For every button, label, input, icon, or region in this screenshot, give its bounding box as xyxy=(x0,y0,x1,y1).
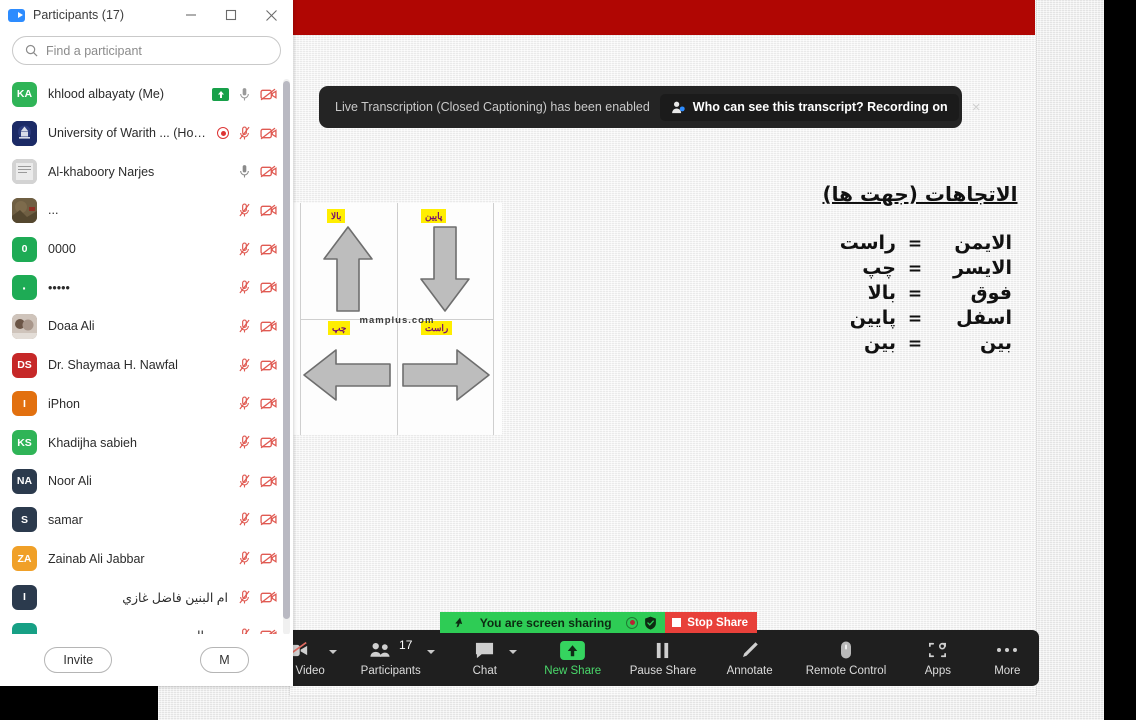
participant-name: iPhon xyxy=(48,397,228,411)
participant-name: 0000 xyxy=(48,242,228,256)
stop-share-button[interactable]: Stop Share xyxy=(665,612,757,633)
participant-name: University of Warith ... (Host) xyxy=(48,126,206,140)
avatar xyxy=(12,314,37,339)
avatar xyxy=(12,121,37,146)
avatar: DS xyxy=(12,353,37,378)
invite-button[interactable]: Invite xyxy=(44,647,112,673)
list-item[interactable]: Doaa Ali xyxy=(0,307,293,346)
toolbar-remote-control-button[interactable]: Remote Control xyxy=(798,630,894,686)
close-icon[interactable]: × xyxy=(969,99,984,116)
university-logo-icon xyxy=(12,121,37,146)
microphone-muted-icon[interactable] xyxy=(239,590,250,605)
participants-icon: 17 xyxy=(369,639,412,661)
list-item[interactable]: I iPhon xyxy=(0,385,293,424)
vocabulary-row: الايسر = چپ xyxy=(800,257,1040,279)
zoom-meeting-toolbar: Mute Start Video xyxy=(183,630,1039,686)
vocabulary-arabic-term: الايسر xyxy=(934,257,1012,279)
avatar: I xyxy=(12,585,37,610)
avatar xyxy=(12,198,37,223)
vocabulary-persian-term: بین xyxy=(800,332,896,354)
toolbar-new-share-button[interactable]: New Share xyxy=(537,630,609,686)
screen-root: بالا پایین چپ راست xyxy=(0,0,1136,720)
video-off-icon[interactable] xyxy=(260,552,277,565)
participant-name: Khadijha sabieh xyxy=(48,436,228,450)
vocabulary-equals: = xyxy=(902,234,928,254)
chat-icon xyxy=(474,639,495,661)
participant-status-icons xyxy=(239,242,277,257)
list-item[interactable]: University of Warith ... (Host) xyxy=(0,114,293,153)
toolbar-chat-label: Chat xyxy=(473,665,497,677)
who-can-see-transcript-label: Who can see this transcript? Recording o… xyxy=(693,100,948,114)
video-off-icon[interactable] xyxy=(260,436,277,449)
participant-status-icons xyxy=(239,280,277,295)
microphone-muted-icon[interactable] xyxy=(239,280,250,295)
toolbar-chat-button[interactable]: Chat xyxy=(459,630,511,686)
toolbar-annotate-button[interactable]: Annotate xyxy=(715,630,784,686)
toolbar-more-button[interactable]: More xyxy=(980,630,1035,686)
vocabulary-row: الايمن = راست xyxy=(800,232,1040,254)
list-item[interactable]: ZA Zainab Ali Jabbar xyxy=(0,539,293,578)
list-item[interactable]: Al-khaboory Narjes xyxy=(0,152,293,191)
mouse-icon xyxy=(839,639,853,661)
mute-all-button[interactable]: M xyxy=(200,647,248,673)
video-off-icon[interactable] xyxy=(260,165,277,178)
toolbar-more-label: More xyxy=(994,665,1020,677)
close-icon[interactable] xyxy=(251,0,291,30)
participant-name: ••••• xyxy=(48,281,228,295)
scrollbar-thumb[interactable] xyxy=(283,81,290,619)
list-item[interactable]: ... xyxy=(0,191,293,230)
photo-avatar-icon xyxy=(12,159,37,184)
microphone-muted-icon[interactable] xyxy=(239,242,250,257)
participant-name: ... xyxy=(48,203,228,217)
vocabulary-title: الاتجاهات (جهت ها) xyxy=(800,182,1040,206)
video-off-icon[interactable] xyxy=(260,88,277,101)
list-item[interactable]: NA Noor Ali xyxy=(0,462,293,501)
video-off-icon[interactable] xyxy=(260,397,277,410)
list-item[interactable]: · ••••• xyxy=(0,268,293,307)
zoom-logo-icon xyxy=(8,9,25,22)
avatar: ZA xyxy=(12,546,37,571)
who-can-see-transcript-button[interactable]: Who can see this transcript? Recording o… xyxy=(660,94,959,121)
avatar: KA xyxy=(12,82,37,107)
arrow-left-icon xyxy=(302,347,392,403)
toolbar-new-share-label: New Share xyxy=(544,665,601,677)
vocabulary-arabic-term: الايمن xyxy=(934,232,1012,254)
participant-status-icons xyxy=(239,319,277,334)
participant-name: khlood albayaty (Me) xyxy=(48,87,201,101)
toolbar-pause-share-button[interactable]: Pause Share xyxy=(625,630,702,686)
vocabulary-row: بين = بین xyxy=(800,332,1040,354)
arrow-right-icon xyxy=(401,347,491,403)
vocabulary-arabic-term: بين xyxy=(934,332,1012,354)
participant-status-icons xyxy=(239,590,277,605)
participants-window-titlebar: Participants (17) xyxy=(0,0,293,30)
directions-vocabulary-block: الاتجاهات (جهت ها) الايمن = راست الايسر … xyxy=(800,182,1040,357)
share-up-icon xyxy=(559,639,586,661)
list-item[interactable]: 0 0000 xyxy=(0,230,293,269)
participant-status-icons xyxy=(239,203,277,218)
participants-scrollbar[interactable] xyxy=(283,79,290,635)
participant-name: Zainab Ali Jabbar xyxy=(48,552,228,566)
participants-options-chevron-down-icon[interactable] xyxy=(427,650,435,654)
vocabulary-equals: = xyxy=(902,309,928,329)
vocabulary-persian-term: راست xyxy=(800,232,896,254)
participant-status-icons xyxy=(239,435,277,450)
share-pointer-icon xyxy=(452,616,465,629)
toolbar-pause-share-label: Pause Share xyxy=(630,665,697,677)
participant-name: Al-khaboory Narjes xyxy=(48,165,228,179)
photo-avatar-icon xyxy=(12,198,37,223)
participant-status-icons xyxy=(212,87,277,102)
arrow-down-icon xyxy=(419,225,471,313)
photo-avatar-icon xyxy=(12,314,37,339)
microphone-muted-icon[interactable] xyxy=(239,396,250,411)
search-placeholder: Find a participant xyxy=(46,44,142,58)
participant-name: Doaa Ali xyxy=(48,319,228,333)
raise-hand-badge-icon[interactable] xyxy=(212,88,229,101)
recording-indicator-icon xyxy=(217,127,229,139)
pause-icon xyxy=(654,639,671,661)
microphone-muted-icon[interactable] xyxy=(239,126,250,141)
transcription-message: Live Transcription (Closed Captioning) h… xyxy=(335,100,650,114)
participant-status-icons xyxy=(239,512,277,527)
participant-status-icons xyxy=(217,126,277,141)
minimize-icon[interactable] xyxy=(171,0,211,30)
participant-status-icons xyxy=(239,164,277,179)
arrow-up-icon xyxy=(322,225,374,313)
toolbar-remote-control-label: Remote Control xyxy=(806,665,887,677)
participants-search-area: Find a participant xyxy=(0,30,293,75)
microphone-muted-icon[interactable] xyxy=(239,319,250,334)
document-red-header-banner xyxy=(293,0,1035,35)
arrow-label-down: پایین xyxy=(421,209,446,223)
participants-footer: Invite M xyxy=(0,634,293,686)
arrow-cell-right: راست xyxy=(397,319,494,435)
search-icon xyxy=(25,44,38,57)
list-item[interactable]: KS Khadijha sabieh xyxy=(0,423,293,462)
participants-window-title: Participants (17) xyxy=(33,8,171,22)
participants-window: Participants (17) Find a participant xyxy=(0,0,293,686)
video-off-icon[interactable] xyxy=(260,204,277,217)
microphone-muted-icon[interactable] xyxy=(239,551,250,566)
vocabulary-row: اسفل = پایین xyxy=(800,307,1040,329)
vocabulary-equals: = xyxy=(902,259,928,279)
record-dot-icon xyxy=(626,617,638,629)
apps-icon xyxy=(927,639,948,661)
video-off-icon[interactable] xyxy=(260,127,277,140)
vocabulary-persian-term: چپ xyxy=(800,257,896,279)
video-off-icon[interactable] xyxy=(260,320,277,333)
avatar: · xyxy=(12,275,37,300)
arrow-cell-left: چپ xyxy=(300,319,397,435)
vocabulary-persian-term: بالا xyxy=(800,282,896,304)
avatar: KS xyxy=(12,430,37,455)
video-off-icon[interactable] xyxy=(260,591,277,604)
video-off-icon[interactable] xyxy=(260,513,277,526)
arrows-grid: بالا پایین چپ راست xyxy=(300,203,494,435)
microphone-muted-icon[interactable] xyxy=(239,435,250,450)
avatar: I xyxy=(12,391,37,416)
screen-share-status-bar: You are screen sharing Stop Share xyxy=(440,612,757,633)
vocabulary-arabic-term: فوق xyxy=(934,282,1012,304)
list-item[interactable]: DS Dr. Shaymaa H. Nawfal xyxy=(0,346,293,385)
chat-options-chevron-down-icon[interactable] xyxy=(509,650,517,654)
desktop-black-area-bottom-left xyxy=(0,686,158,720)
avatar: 0 xyxy=(12,237,37,262)
directions-arrows-figure: بالا پایین چپ راست xyxy=(292,203,502,435)
participant-status-icons xyxy=(239,551,277,566)
participants-list: KA khlood albayaty (Me) xyxy=(0,75,293,641)
vocabulary-arabic-term: اسفل xyxy=(934,307,1012,329)
pencil-icon xyxy=(740,639,760,661)
toolbar-apps-button[interactable]: Apps xyxy=(910,630,965,686)
video-off-icon[interactable] xyxy=(260,475,277,488)
arrow-label-up: بالا xyxy=(327,209,345,223)
microphone-muted-icon[interactable] xyxy=(239,512,250,527)
participants-count: 17 xyxy=(399,638,412,652)
stop-share-label: Stop Share xyxy=(687,617,748,629)
video-off-icon[interactable] xyxy=(260,359,277,372)
toolbar-annotate-label: Annotate xyxy=(727,665,773,677)
video-off-icon[interactable] xyxy=(260,243,277,256)
toolbar-participants-button[interactable]: 17 Participants xyxy=(351,630,431,686)
microphone-on-icon[interactable] xyxy=(239,164,250,179)
figure-watermark: mamplus.com xyxy=(300,315,494,326)
avatar xyxy=(12,159,37,184)
participant-name: samar xyxy=(48,513,228,527)
microphone-muted-icon[interactable] xyxy=(239,474,250,489)
live-transcription-banner: Live Transcription (Closed Captioning) h… xyxy=(319,86,962,128)
participant-name: ام البنين فاضل غازي xyxy=(48,590,228,605)
microphone-on-icon[interactable] xyxy=(239,87,250,102)
shield-icon xyxy=(644,616,657,630)
participant-name: Dr. Shaymaa H. Nawfal xyxy=(48,358,228,372)
vocabulary-persian-term: پایین xyxy=(800,307,896,329)
participant-name: Noor Ali xyxy=(48,474,228,488)
participant-status-icons xyxy=(239,358,277,373)
microphone-muted-icon[interactable] xyxy=(239,358,250,373)
arrow-cell-up: بالا xyxy=(300,203,397,319)
vocabulary-equals: = xyxy=(902,284,928,304)
toolbar-apps-label: Apps xyxy=(925,665,951,677)
vocabulary-equals: = xyxy=(902,334,928,354)
vocabulary-row: فوق = بالا xyxy=(800,282,1040,304)
microphone-muted-icon[interactable] xyxy=(239,203,250,218)
more-dots-icon xyxy=(996,639,1018,661)
avatar: NA xyxy=(12,469,37,494)
stop-square-icon xyxy=(672,618,681,627)
video-options-chevron-down-icon[interactable] xyxy=(329,650,337,654)
arrow-cell-down: پایین xyxy=(397,203,494,319)
screen-share-status-text: You are screen sharing xyxy=(465,616,626,630)
video-off-icon[interactable] xyxy=(260,281,277,294)
toolbar-participants-label: Participants xyxy=(361,665,421,677)
maximize-icon[interactable] xyxy=(211,0,251,30)
search-input[interactable]: Find a participant xyxy=(12,36,281,65)
avatar: S xyxy=(12,507,37,532)
participant-status-icons xyxy=(239,474,277,489)
list-item[interactable]: KA khlood albayaty (Me) xyxy=(0,75,293,114)
person-icon xyxy=(671,100,686,115)
desktop-black-area-right xyxy=(1104,0,1136,720)
participant-status-icons xyxy=(239,396,277,411)
list-item[interactable]: I ام البنين فاضل غازي xyxy=(0,578,293,617)
list-item[interactable]: S samar xyxy=(0,501,293,540)
